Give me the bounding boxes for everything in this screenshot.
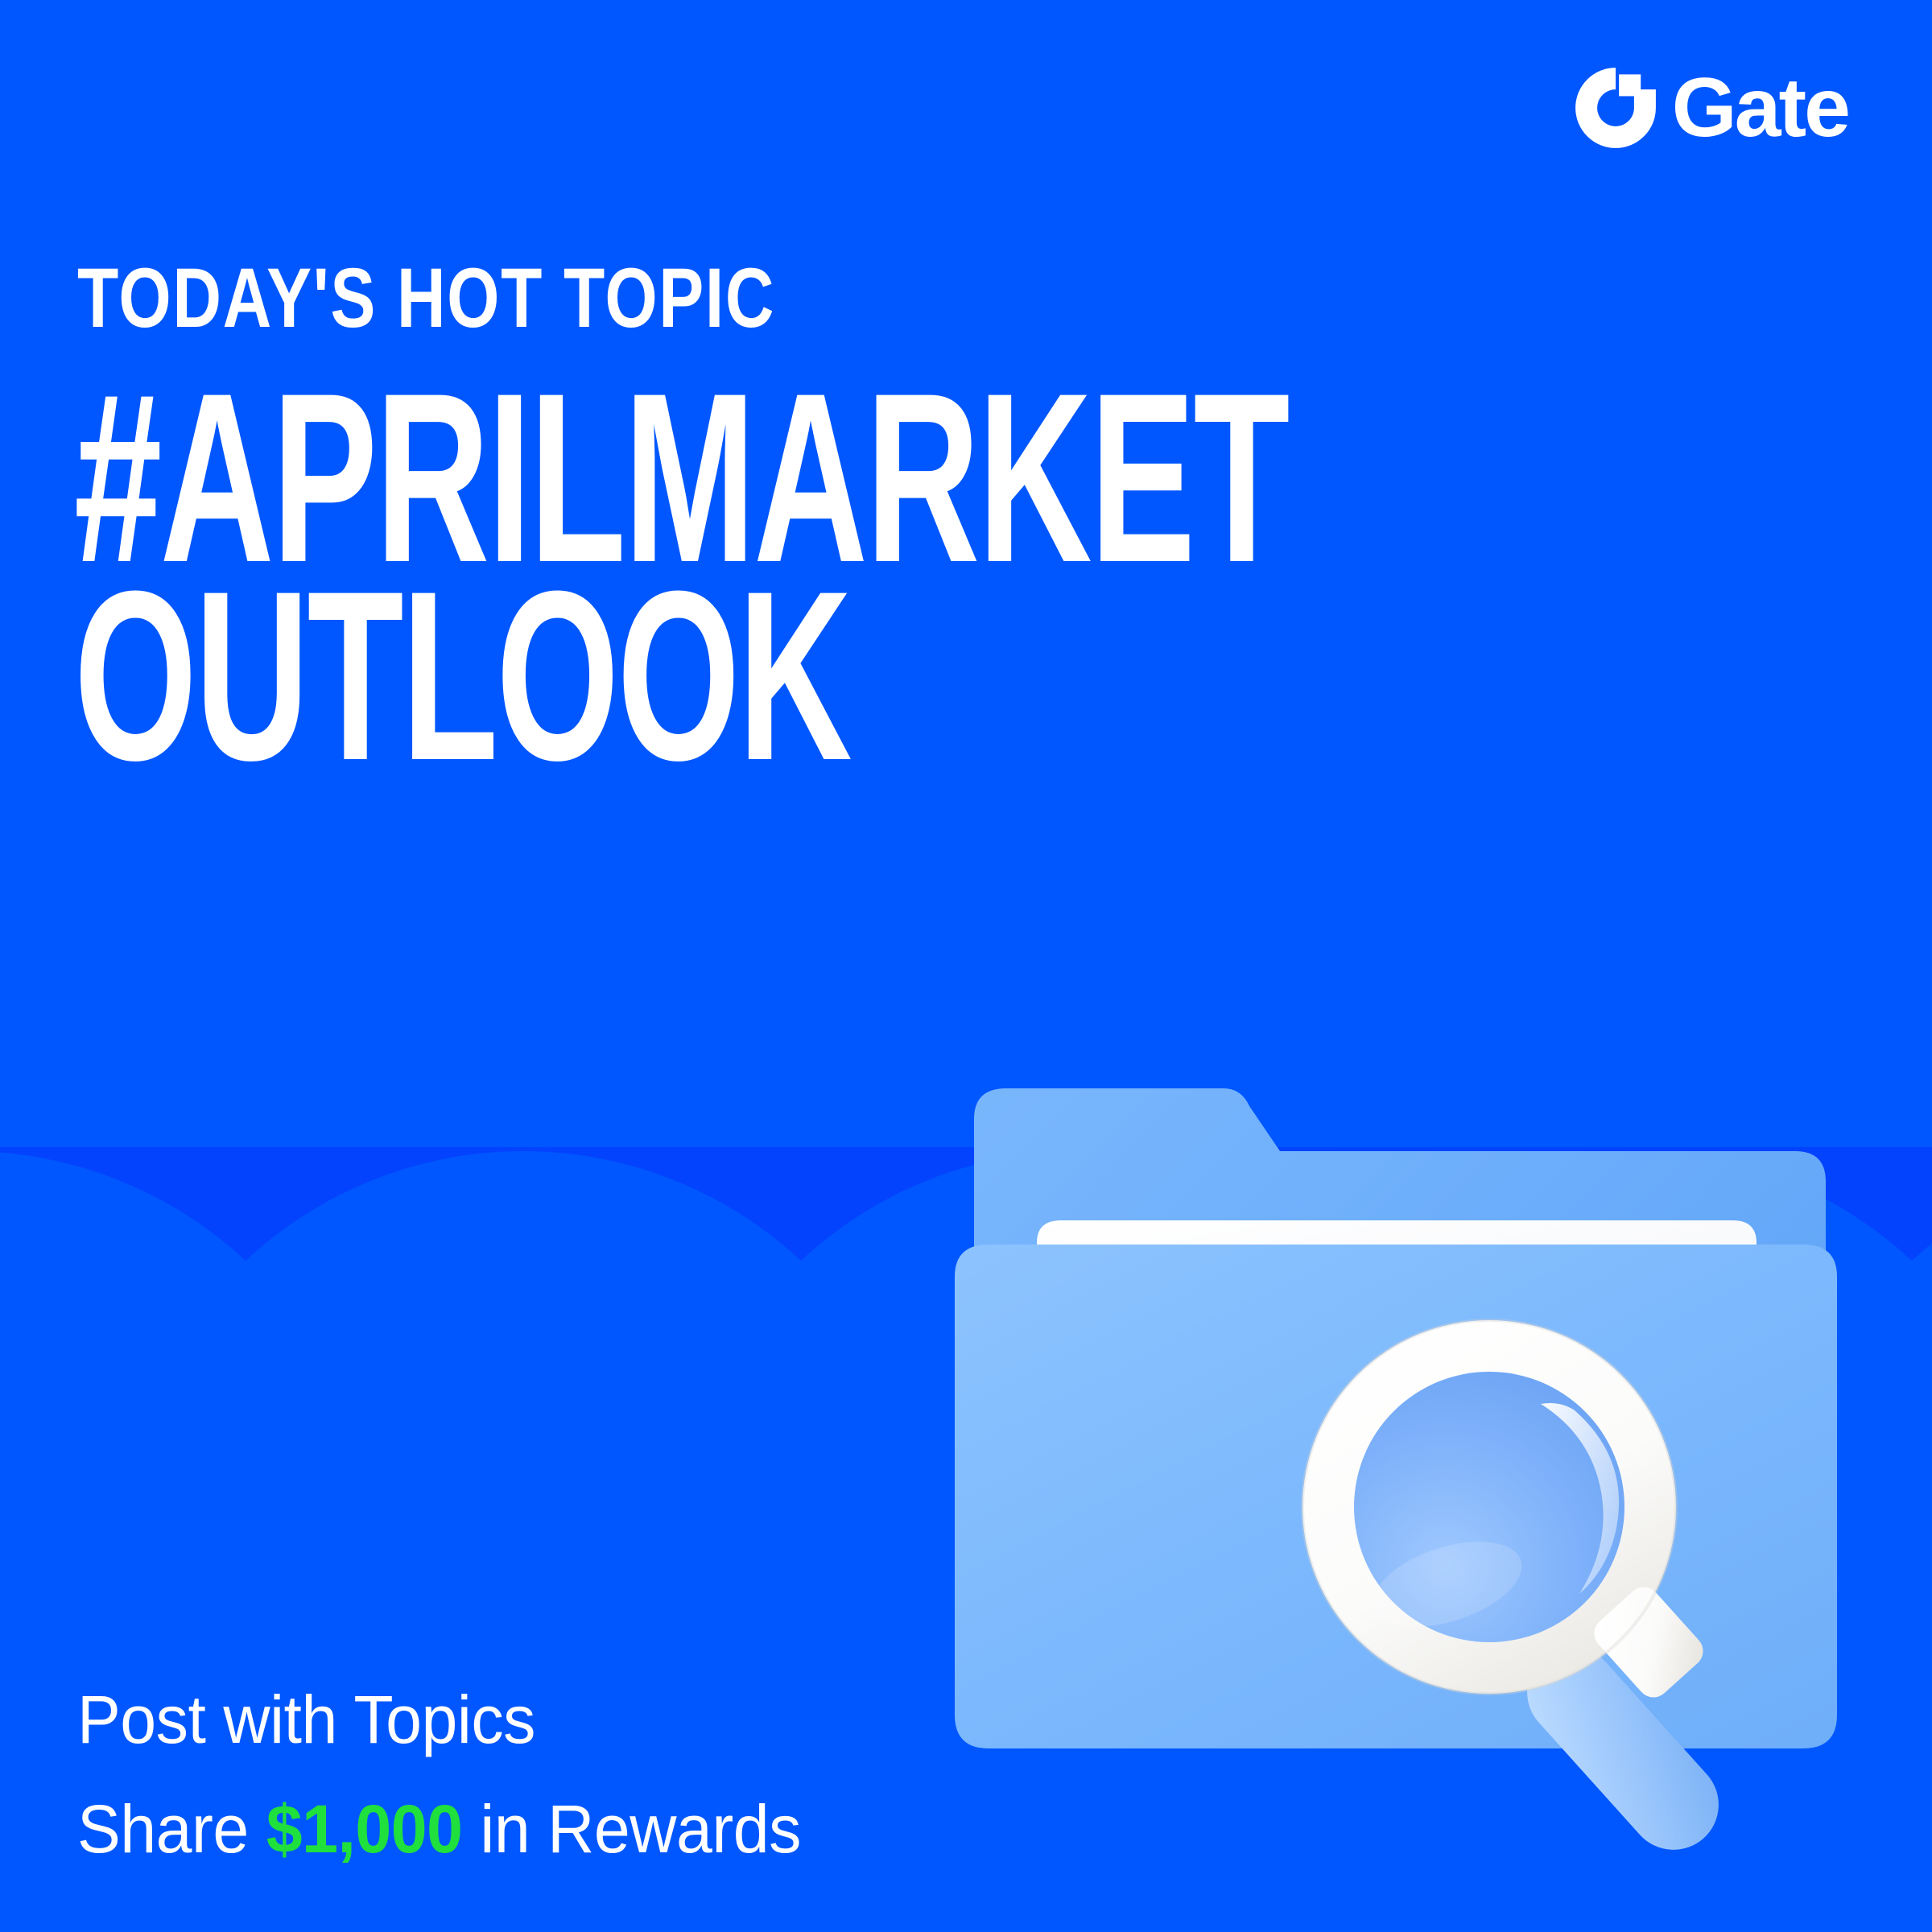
footer-line-1: Post with Topics [77, 1665, 801, 1774]
gate-logo-mark-icon [1574, 66, 1657, 150]
folder-with-magnifier-illustration [926, 1063, 1851, 1876]
promo-poster: Gate TODAY'S HOT TOPIC #APRILMARKET OUTL… [0, 0, 1932, 1932]
page-title: #APRILMARKET OUTLOOK [74, 378, 1288, 774]
footer-line-2-suffix: in Rewards [462, 1791, 800, 1867]
footer-copy: Post with Topics Share $1,000 in Rewards [77, 1665, 801, 1884]
brand-name: Gate [1672, 66, 1848, 150]
brand-logo[interactable]: Gate [1574, 66, 1848, 150]
folder-magnifier-icon [926, 1063, 1851, 1876]
reward-amount: $1,000 [266, 1791, 463, 1867]
footer-line-2: Share $1,000 in Rewards [77, 1774, 801, 1884]
footer-line-2-prefix: Share [77, 1791, 266, 1867]
eyebrow-label: TODAY'S HOT TOPIC [77, 256, 775, 341]
